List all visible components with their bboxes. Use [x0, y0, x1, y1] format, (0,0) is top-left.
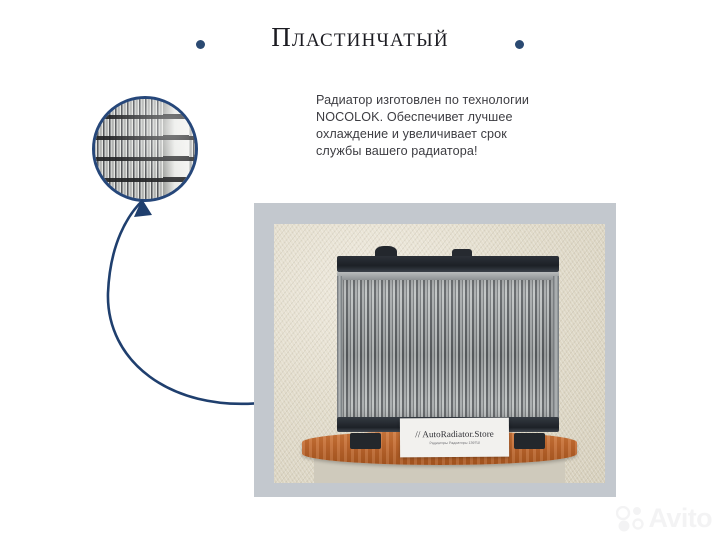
photo-frame: // AutoRadiator.Store Радиаторы Радиатор… [254, 203, 616, 497]
radiator-unit [337, 256, 559, 435]
inset-glare [95, 99, 195, 199]
radiator-side-left [337, 276, 343, 419]
radiator-foot-right [514, 433, 545, 449]
radiator-header-strip [337, 272, 559, 280]
radiator-foot-left [350, 433, 381, 449]
body-paragraph: Радиатор изготовлен по технологии NOCOLO… [316, 92, 544, 160]
page-title: Пластинчатый [230, 22, 490, 53]
decorative-dot-left [196, 40, 205, 49]
store-card-subtitle: Радиаторы Радиаторы 1397Ш [429, 442, 479, 446]
radiator-side-right [553, 276, 559, 419]
radiator-top-tank [337, 256, 559, 272]
decorative-dot-right [515, 40, 524, 49]
store-card-title: // AutoRadiator.Store [415, 429, 494, 440]
radiator-core-fins [339, 280, 556, 417]
curved-arrow-icon [100, 185, 280, 415]
avito-wordmark: Avito [649, 505, 713, 532]
radiator-photo: // AutoRadiator.Store Радиаторы Радиатор… [274, 224, 605, 483]
slide-canvas: Пластинчатый Радиатор изготовлен по техн… [0, 0, 720, 540]
avito-logo-icon [616, 506, 646, 532]
avito-watermark: Avito [616, 505, 713, 532]
store-label-card: // AutoRadiator.Store Радиаторы Радиатор… [400, 418, 509, 458]
